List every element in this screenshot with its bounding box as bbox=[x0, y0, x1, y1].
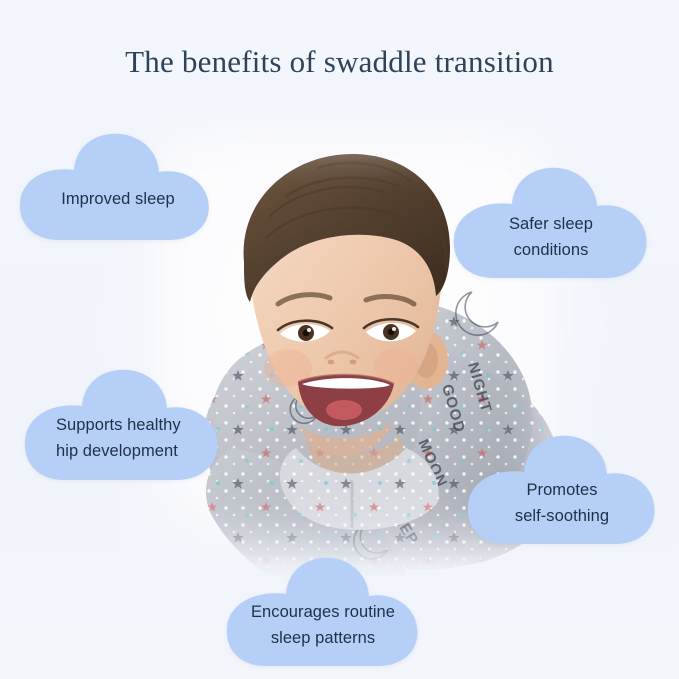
page-title: The benefits of swaddle transition bbox=[0, 44, 679, 80]
benefit-cloud-improved-sleep[interactable]: Improved sleep bbox=[14, 130, 222, 250]
cloud-shape-icon bbox=[448, 166, 654, 288]
benefit-cloud-safer-sleep-conditions[interactable]: Safer sleep conditions bbox=[448, 166, 654, 288]
benefit-cloud-promotes-self-soothing[interactable]: Promotes self-soothing bbox=[462, 434, 662, 554]
cloud-shape-icon bbox=[462, 434, 662, 554]
cloud-shape-icon bbox=[14, 130, 222, 250]
benefit-cloud-encourages-routine-sleep-patterns[interactable]: Encourages routine sleep patterns bbox=[220, 556, 426, 676]
cloud-shape-icon bbox=[220, 556, 426, 676]
cloud-shape-icon bbox=[20, 368, 226, 490]
benefit-cloud-supports-healthy-hip-development[interactable]: Supports healthy hip development bbox=[20, 368, 226, 490]
infographic-canvas: NIGHT GOOD SLEEP MOON bbox=[0, 0, 679, 679]
